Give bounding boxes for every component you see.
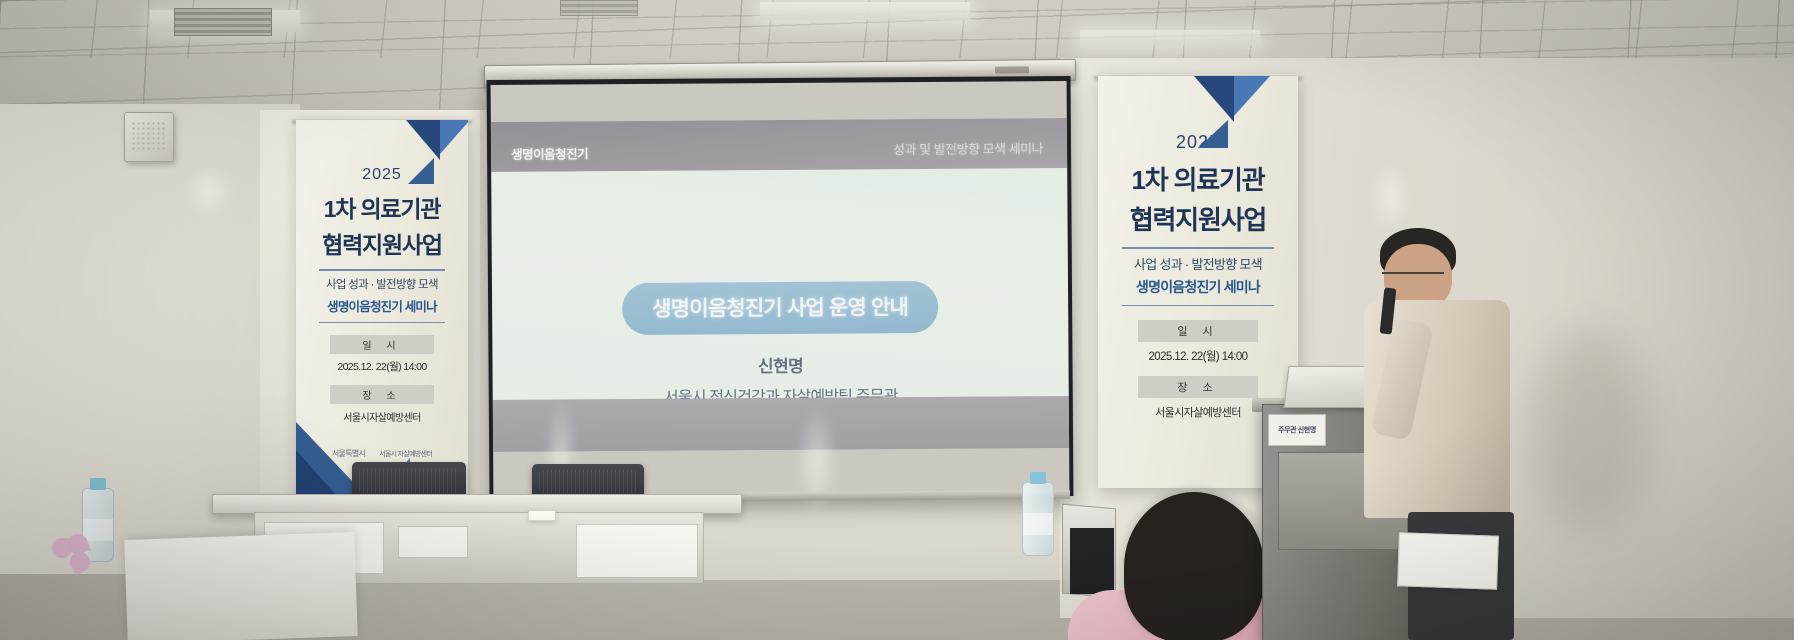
foreground-paper-right[interactable] <box>1397 532 1499 589</box>
banner-right-subtitle-line2: 생명이음청진기 세미나 <box>1098 277 1298 297</box>
chair-mesh <box>539 470 638 495</box>
banner-right-divider-top <box>1122 247 1274 249</box>
conference-table-top <box>212 494 742 514</box>
banner-right-date-label: 일 시 <box>1138 320 1258 342</box>
banner-deco-triangle <box>440 120 468 154</box>
podium-nameplate: 주무관 신현명 <box>1268 414 1326 446</box>
wall-shadow-1 <box>1528 330 1648 530</box>
table-front-panel-3 <box>576 524 698 578</box>
slide-body: 생명이음청진기 사업 운영 안내 신현명 서울시 정신건강과 자살예방팀 주무관 <box>491 168 1069 400</box>
banner-left-deco-top <box>296 120 468 182</box>
banner-left-heading-line2: 협력지원사업 <box>296 226 468 260</box>
banner-right-date-value: 2025.12. 22(월) 14:00 <box>1098 348 1298 364</box>
bottle-label <box>1023 513 1053 535</box>
banner-right-deco-top <box>1098 76 1298 138</box>
banner-right-divider-bottom <box>1122 305 1274 307</box>
banner-deco-triangle <box>1194 76 1234 122</box>
banner-left: 2025 1차 의료기관 협력지원사업 사업 성과 · 발전방향 모색 생명이음… <box>296 120 468 502</box>
wall-highlight-2 <box>1382 172 1400 224</box>
ceiling-vent-1 <box>174 8 272 36</box>
projected-slide: 생명이음청진기 성과 및 발전방향 모색 세미나 생명이음청진기 사업 운영 안… <box>491 118 1069 452</box>
banner-deco-triangle <box>1234 76 1270 116</box>
ceiling-vent-2 <box>560 0 638 16</box>
wall-highlight-1 <box>196 176 222 206</box>
slide-header-right-text: 성과 및 발전방향 모색 세미나 <box>893 138 1043 158</box>
table-front-panel-2 <box>398 526 468 558</box>
housing-brand-label <box>995 66 1029 73</box>
ceiling-light-3 <box>1080 30 1260 46</box>
banner-right-subtitle-line1: 사업 성과 · 발전방향 모색 <box>1098 254 1298 273</box>
slide-header-band: 생명이음청진기 성과 및 발전방향 모색 세미나 <box>491 118 1067 172</box>
wall-speaker <box>124 112 174 162</box>
banner-left-date-value: 2025.12. 22(월) 14:00 <box>296 359 468 374</box>
banner-left-date-label: 일 시 <box>330 335 434 354</box>
slide-header-left-text: 생명이음청진기 <box>511 143 588 163</box>
slide-title-pill: 생명이음청진기 사업 운영 안내 <box>622 281 938 335</box>
banner-right-heading-line2: 협력지원사업 <box>1098 200 1298 237</box>
flower-decoration <box>52 534 94 576</box>
water-bottle-right[interactable] <box>1022 482 1054 556</box>
banner-deco-triangle <box>408 158 434 184</box>
chair-mesh <box>359 468 459 494</box>
banner-left-heading-line1: 1차 의료기관 <box>296 190 468 224</box>
table-paper[interactable] <box>528 510 556 521</box>
banner-left-subtitle-line1: 사업 성과 · 발전방향 모색 <box>296 276 468 292</box>
foreground-paper-stack <box>124 532 357 640</box>
banner-right-place-label: 장 소 <box>1138 376 1258 398</box>
audience-laptop-screen[interactable] <box>1070 528 1114 594</box>
ceiling-light-2 <box>760 2 970 20</box>
banner-deco-triangle <box>1198 120 1228 148</box>
bottle-cap <box>1030 472 1046 484</box>
slide-speaker-name: 신현명 <box>758 352 803 377</box>
banner-left-place-label: 장 소 <box>330 385 434 404</box>
bottle-cap <box>90 478 106 490</box>
banner-right-heading-line1: 1차 의료기관 <box>1098 160 1298 197</box>
audience-head <box>1124 492 1264 640</box>
seminar-room-photo: 생명이음청진기 성과 및 발전방향 모색 세미나 생명이음청진기 사업 운영 안… <box>0 0 1794 640</box>
banner-left-divider-bottom <box>319 322 445 324</box>
banner-left-divider-top <box>319 269 445 271</box>
banner-deco-triangle <box>406 120 440 160</box>
presenter-glasses <box>1382 272 1444 274</box>
slide-footer-band <box>493 396 1069 452</box>
banner-left-subtitle-line2: 생명이음청진기 세미나 <box>296 296 468 315</box>
